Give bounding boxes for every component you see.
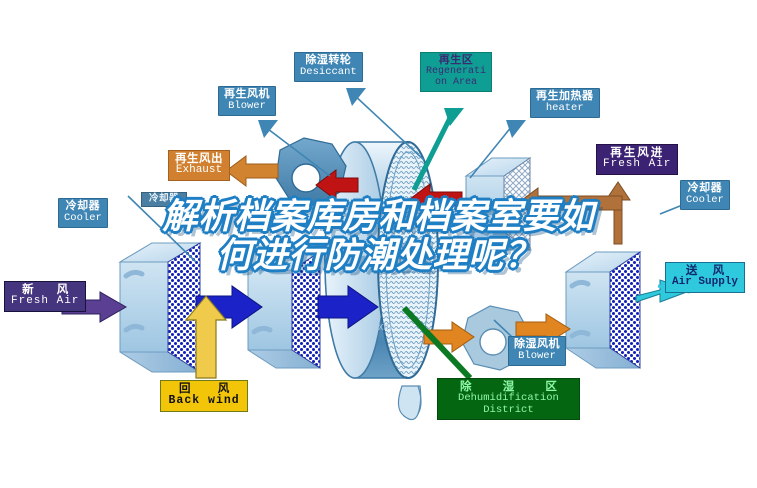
label-dehumid-blower[interactable]: 除湿风机 Blower bbox=[508, 336, 566, 366]
label-exhaust[interactable]: 再生风出 Exhaust bbox=[168, 150, 230, 181]
label-desiccant[interactable]: 除湿转轮 Desiccant bbox=[294, 52, 363, 82]
label-dehumid-area[interactable]: 除 湿 区 Dehumidification District bbox=[437, 378, 580, 420]
label-air-supply-en: Air Supply bbox=[672, 277, 738, 289]
label-regen-heater[interactable]: 再生加热器 heater bbox=[530, 88, 600, 118]
arrow-regen-in-vertical bbox=[606, 182, 630, 244]
label-regen-area-en2: on Area bbox=[426, 78, 486, 89]
label-regen-blower[interactable]: 再生风机 Blower bbox=[218, 86, 276, 116]
label-cooler-right[interactable]: 冷却器 Cooler bbox=[680, 180, 730, 210]
label-dehumid-area-en2: District bbox=[446, 405, 571, 416]
arrow-exhaust bbox=[226, 156, 278, 186]
label-fresh-air-left-en: Fresh Air bbox=[11, 296, 79, 308]
label-back-wind-en: Back wind bbox=[167, 395, 241, 407]
left-cooler-unit bbox=[120, 243, 200, 372]
dehumidifier-diagram: xin bbox=[0, 0, 757, 488]
label-cooler-left[interactable]: 冷却器 Cooler bbox=[58, 198, 108, 228]
label-desiccant-en: Desiccant bbox=[300, 67, 357, 78]
label-cooler-tag-cn: 冷却器 bbox=[149, 194, 179, 204]
supply-filter-unit bbox=[566, 252, 640, 368]
label-back-wind[interactable]: 回 风 Back wind bbox=[160, 380, 248, 412]
label-regen-fresh-air-en: Fresh Air bbox=[603, 159, 671, 171]
label-cooler-left-en: Cooler bbox=[64, 213, 102, 224]
label-regen-blower-en: Blower bbox=[224, 101, 270, 112]
diagram-graphics: xin bbox=[0, 0, 757, 488]
arrow-regen-in-horizontal bbox=[518, 188, 622, 218]
label-regen-area[interactable]: 再生区 Regenerati on Area bbox=[420, 52, 492, 92]
second-cooler-unit bbox=[248, 252, 320, 368]
label-regen-fresh-air[interactable]: 再生风进 Fresh Air bbox=[596, 144, 678, 175]
label-exhaust-en: Exhaust bbox=[175, 165, 223, 177]
watermark-text: xin bbox=[378, 321, 392, 333]
tail-heater bbox=[506, 120, 526, 138]
label-regen-heater-en: heater bbox=[536, 103, 594, 114]
label-dehumid-blower-en: Blower bbox=[514, 351, 560, 362]
label-fresh-air-left[interactable]: 新 风 Fresh Air bbox=[4, 281, 86, 312]
label-air-supply[interactable]: 送 风 Air Supply bbox=[665, 262, 745, 293]
label-cooler-right-en: Cooler bbox=[686, 195, 724, 206]
label-cooler-tag[interactable]: 冷却器 bbox=[141, 192, 187, 207]
